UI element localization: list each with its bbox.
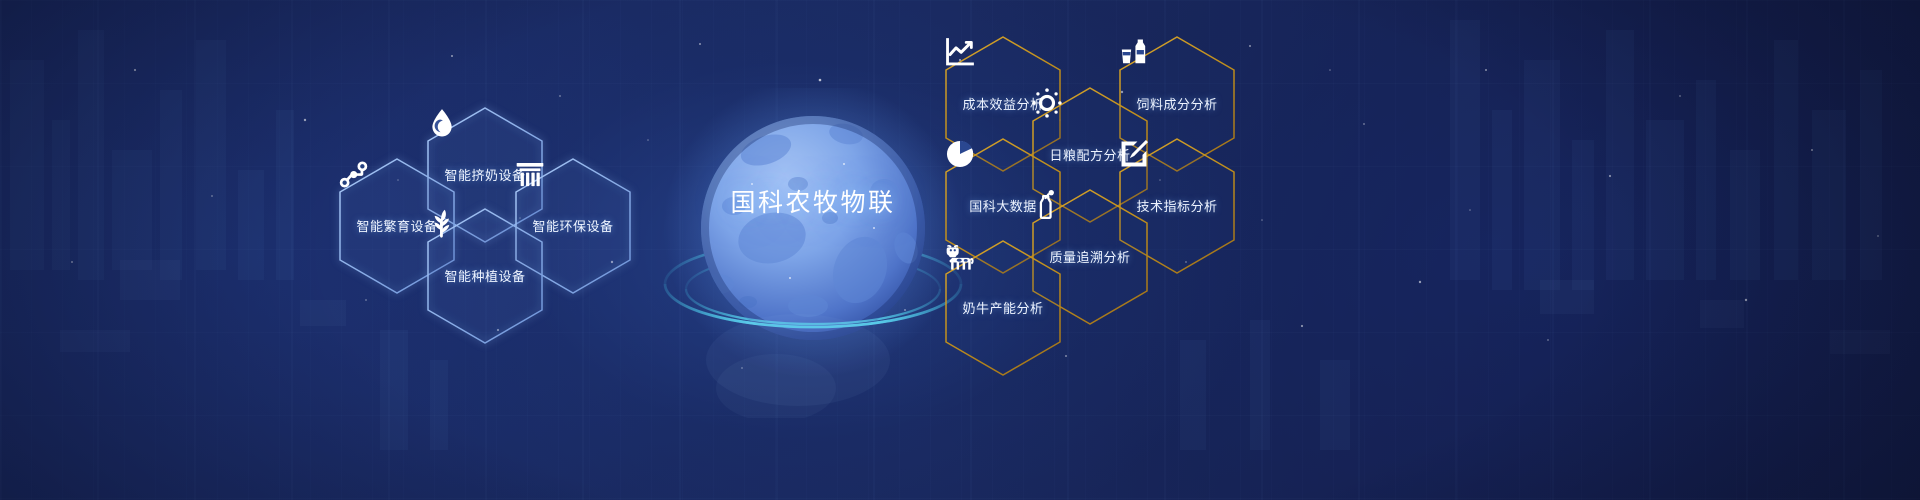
milk-bottle-glass-icon bbox=[1117, 35, 1151, 69]
edit-pencil-icon bbox=[1117, 137, 1151, 171]
milk-bottle-icon bbox=[1030, 188, 1064, 222]
blue-planet-with-rings-icon bbox=[648, 88, 978, 418]
page-title: 国科农牧物联 bbox=[648, 183, 978, 219]
dairy-cow-icon bbox=[943, 239, 977, 273]
hex-label: 奶牛产能分析 bbox=[962, 302, 1043, 315]
trash-bin-icon bbox=[513, 157, 547, 191]
network-nodes-icon bbox=[337, 157, 371, 191]
water-droplet-icon bbox=[425, 106, 459, 140]
hero-banner: 国科农牧物联 智能挤奶设备 bbox=[0, 0, 1920, 500]
sun-icon bbox=[1030, 86, 1064, 120]
hex-label: 国科大数据 bbox=[969, 200, 1037, 213]
pie-chart-icon bbox=[943, 137, 977, 171]
plant-sprout-icon bbox=[425, 207, 459, 241]
line-chart-icon bbox=[943, 35, 977, 69]
hex-cell-dairy-cow-capacity-analysis[interactable]: 奶牛产能分析 bbox=[943, 239, 1063, 377]
planet-graphic bbox=[648, 88, 978, 418]
hex-cell-smart-planting[interactable]: 智能种植设备 bbox=[425, 207, 545, 345]
hex-label: 智能种植设备 bbox=[444, 270, 525, 283]
